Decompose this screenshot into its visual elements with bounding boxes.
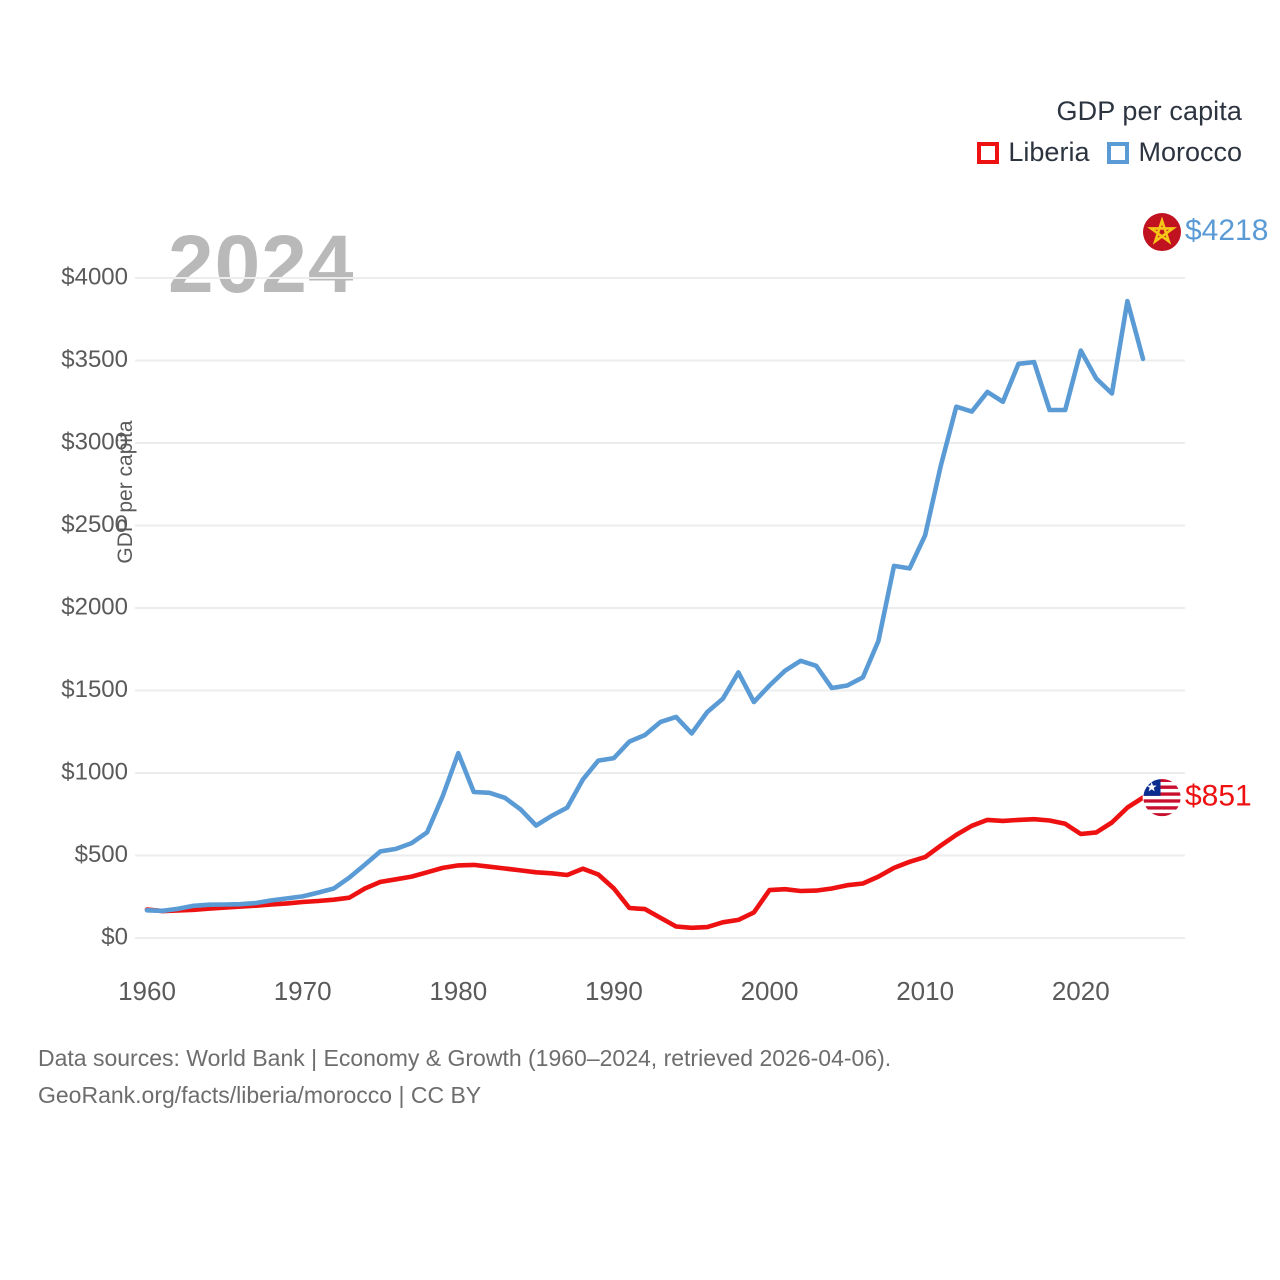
- y-tick-label: $3000: [61, 428, 128, 455]
- x-tick-label: 2000: [741, 976, 799, 1006]
- x-tick-label: 1990: [585, 976, 643, 1006]
- series-line-liberia: [147, 798, 1143, 928]
- chart-root: GDP per capita Liberia Morocco 2024 GDP …: [0, 0, 1280, 1280]
- y-tick-label: $3500: [61, 346, 128, 373]
- liberia-end-value-label: $851: [1185, 780, 1252, 813]
- x-tick-label: 1960: [118, 976, 176, 1006]
- x-tick-label: 2020: [1052, 976, 1110, 1006]
- footer-sources: Data sources: World Bank | Economy & Gro…: [38, 1040, 891, 1115]
- y-axis-ticks: $0$500$1000$1500$2000$2500$3000$3500$400…: [61, 263, 128, 950]
- chart-plot-area: $0$500$1000$1500$2000$2500$3000$3500$400…: [0, 0, 1280, 1030]
- x-tick-label: 1970: [274, 976, 332, 1006]
- x-axis-ticks: 1960197019801990200020102020: [118, 976, 1110, 1006]
- footer-line-1: Data sources: World Bank | Economy & Gro…: [38, 1040, 891, 1077]
- series-lines: [147, 301, 1143, 928]
- x-tick-label: 2010: [896, 976, 954, 1006]
- footer-line-2: GeoRank.org/facts/liberia/morocco | CC B…: [38, 1077, 891, 1114]
- morocco-end-value-label: $4218: [1185, 214, 1268, 247]
- y-tick-label: $1500: [61, 676, 128, 703]
- y-tick-label: $500: [75, 841, 128, 868]
- gridlines: [135, 278, 1185, 938]
- x-tick-label: 1980: [429, 976, 487, 1006]
- y-tick-label: $2000: [61, 593, 128, 620]
- liberia-flag-icon: [1143, 779, 1181, 817]
- y-tick-label: $4000: [61, 263, 128, 290]
- y-tick-label: $1000: [61, 758, 128, 785]
- y-tick-label: $0: [101, 923, 128, 950]
- morocco-flag-icon: [1143, 213, 1181, 251]
- y-tick-label: $2500: [61, 511, 128, 538]
